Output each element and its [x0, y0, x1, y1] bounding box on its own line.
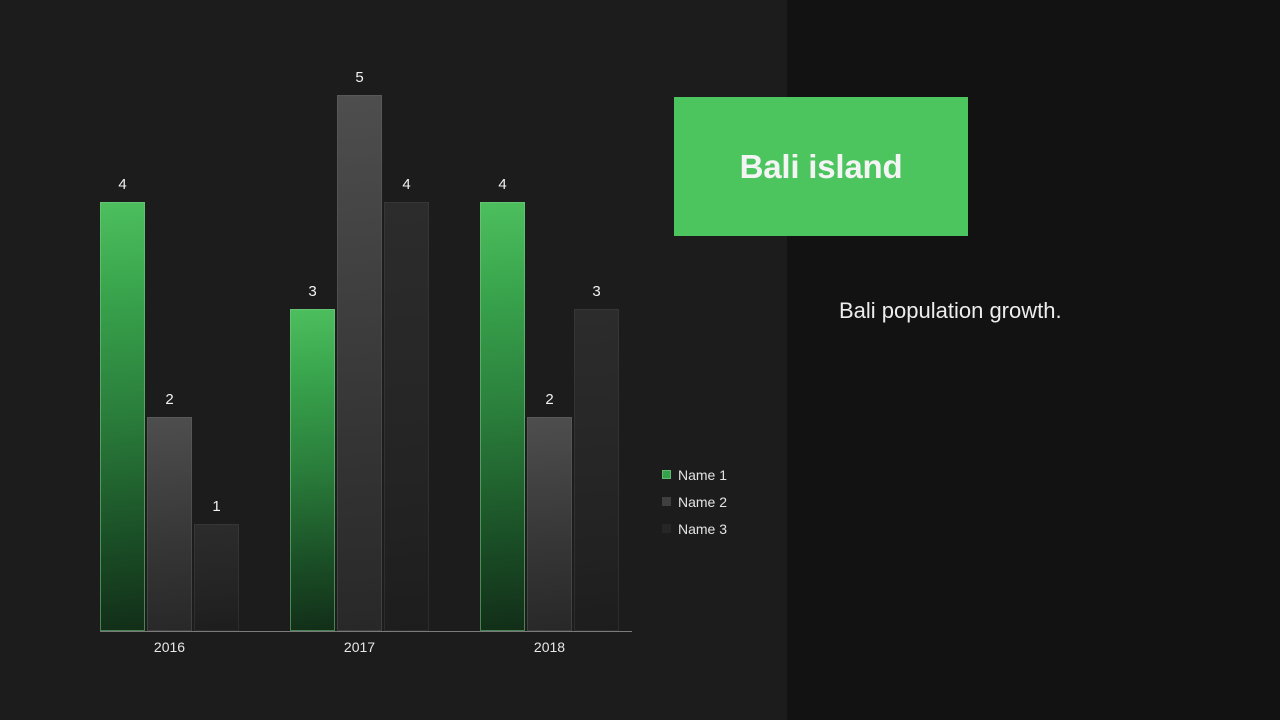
bar-group-2018: 423: [480, 95, 619, 631]
chart-plot-area: 421354423: [100, 95, 632, 631]
bar-value-label: 4: [118, 177, 126, 192]
bar-value-label: 5: [355, 70, 363, 85]
bar-2018-name-2[interactable]: 2: [527, 417, 572, 631]
bar-slot: 2: [527, 95, 572, 631]
bar-value-label: 2: [545, 392, 553, 407]
slide-canvas: 421354423 Name 1Name 2Name 3 Bali island…: [0, 0, 1280, 720]
bar-2016-name-2[interactable]: 2: [147, 417, 192, 631]
bar-slot: 2: [147, 95, 192, 631]
chart-legend: Name 1Name 2Name 3: [662, 467, 727, 536]
bar-2018-name-3[interactable]: 3: [574, 309, 619, 631]
bar-2016-name-1[interactable]: 4: [100, 202, 145, 631]
legend-label: Name 2: [678, 495, 727, 509]
bar-2017-name-1[interactable]: 3: [290, 309, 335, 631]
legend-swatch-icon: [662, 470, 671, 479]
x-axis-label-2017: 2017: [344, 639, 375, 655]
legend-swatch-icon: [662, 497, 671, 506]
bar-slot: 4: [100, 95, 145, 631]
legend-label: Name 1: [678, 468, 727, 482]
bar-value-label: 3: [592, 284, 600, 299]
bar-group-2017: 354: [290, 95, 429, 631]
bar-2017-name-2[interactable]: 5: [337, 95, 382, 631]
bar-slot: 4: [384, 95, 429, 631]
bar-2018-name-1[interactable]: 4: [480, 202, 525, 631]
legend-item-name-2[interactable]: Name 2: [662, 494, 727, 509]
legend-swatch-icon: [662, 524, 671, 533]
bar-value-label: 3: [308, 284, 316, 299]
bar-slot: 4: [480, 95, 525, 631]
legend-item-name-1[interactable]: Name 1: [662, 467, 727, 482]
bar-slot: 3: [574, 95, 619, 631]
legend-item-name-3[interactable]: Name 3: [662, 521, 727, 536]
bar-group-2016: 421: [100, 95, 239, 631]
bar-value-label: 1: [212, 499, 220, 514]
page-title: Bali island: [740, 148, 903, 186]
bar-slot: 3: [290, 95, 335, 631]
x-axis-label-2016: 2016: [154, 639, 185, 655]
bar-value-label: 4: [402, 177, 410, 192]
bar-value-label: 4: [498, 177, 506, 192]
bar-slot: 1: [194, 95, 239, 631]
bar-chart: 421354423: [100, 95, 632, 631]
legend-label: Name 3: [678, 522, 727, 536]
bar-2017-name-3[interactable]: 4: [384, 202, 429, 631]
bar-value-label: 2: [165, 392, 173, 407]
title-block: Bali island: [674, 97, 968, 236]
bar-slot: 5: [337, 95, 382, 631]
subtitle-text: Bali population growth.: [839, 298, 1062, 324]
x-axis-line: [100, 631, 632, 632]
x-axis-label-2018: 2018: [534, 639, 565, 655]
bar-2016-name-3[interactable]: 1: [194, 524, 239, 631]
